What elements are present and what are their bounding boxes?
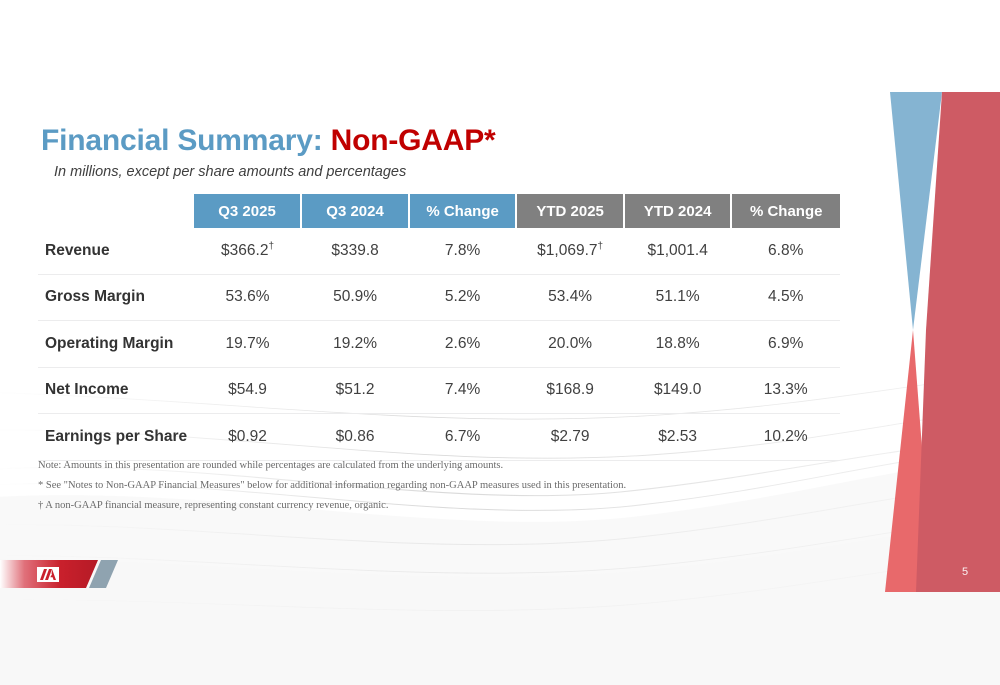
table-cell: 50.9% <box>301 274 409 321</box>
dagger-footnote-marker: † <box>598 241 604 252</box>
page-subtitle: In millions, except per share amounts an… <box>54 164 406 180</box>
financial-summary-table-container: Q3 2025Q3 2024% ChangeYTD 2025YTD 2024% … <box>38 194 840 461</box>
table-row: Gross Margin53.6%50.9%5.2%53.4%51.1%4.5% <box>38 274 840 321</box>
row-label: Gross Margin <box>38 274 194 321</box>
table-cell: $339.8 <box>301 228 409 274</box>
footnote-line: † A non-GAAP financial measure, represen… <box>38 500 678 512</box>
table-cell: 19.2% <box>301 321 409 368</box>
table-cell: $54.9 <box>194 367 302 414</box>
row-label: Net Income <box>38 367 194 414</box>
table-body: Revenue$366.2†$339.87.8%$1,069.7†$1,001.… <box>38 228 840 460</box>
table-cell: 20.0% <box>516 321 624 368</box>
table-cell: $0.92 <box>194 414 302 461</box>
table-cell: 6.7% <box>409 414 517 461</box>
table-cell: 4.5% <box>731 274 840 321</box>
page-title-accent: Non-GAAP* <box>331 124 496 157</box>
table-cell: 10.2% <box>731 414 840 461</box>
financial-summary-table: Q3 2025Q3 2024% ChangeYTD 2025YTD 2024% … <box>38 194 840 461</box>
slide-canvas: Financial Summary: Non-GAAP* In millions… <box>0 0 1000 685</box>
table-row: Net Income$54.9$51.27.4%$168.9$149.013.3… <box>38 367 840 414</box>
table-cell: $2.79 <box>516 414 624 461</box>
page-number: 5 <box>962 566 968 578</box>
row-label: Operating Margin <box>38 321 194 368</box>
table-cell: $168.9 <box>516 367 624 414</box>
dagger-footnote-marker: † <box>268 241 274 252</box>
table-cell: $149.0 <box>624 367 732 414</box>
table-cell: $51.2 <box>301 367 409 414</box>
footnote-line: * See "Notes to Non-GAAP Financial Measu… <box>38 480 678 492</box>
table-cell: 19.7% <box>194 321 302 368</box>
table-row: Earnings per Share$0.92$0.866.7%$2.79$2.… <box>38 414 840 461</box>
table-header-cell-q3-2024: Q3 2024 <box>301 194 409 228</box>
table-cell: $1,001.4 <box>624 228 732 274</box>
table-cell: 13.3% <box>731 367 840 414</box>
table-header-cell-ytd-2024: YTD 2024 <box>624 194 732 228</box>
table-header-cell-change: % Change <box>731 194 840 228</box>
table-row: Revenue$366.2†$339.87.8%$1,069.7†$1,001.… <box>38 228 840 274</box>
table-row: Operating Margin19.7%19.2%2.6%20.0%18.8%… <box>38 321 840 368</box>
table-header-cell-change: % Change <box>409 194 517 228</box>
table-cell: $2.53 <box>624 414 732 461</box>
table-cell: 51.1% <box>624 274 732 321</box>
table-cell: $1,069.7† <box>516 228 624 274</box>
table-header-cell-blank <box>38 194 194 228</box>
table-cell: 6.8% <box>731 228 840 274</box>
company-logo <box>0 556 125 592</box>
table-cell: 53.6% <box>194 274 302 321</box>
table-header-cell-q3-2025: Q3 2025 <box>194 194 302 228</box>
footnotes: Note: Amounts in this presentation are r… <box>38 460 678 520</box>
row-label: Earnings per Share <box>38 414 194 461</box>
table-cell: 6.9% <box>731 321 840 368</box>
table-cell: 53.4% <box>516 274 624 321</box>
table-cell: 18.8% <box>624 321 732 368</box>
page-title-main: Financial Summary: <box>41 124 331 157</box>
table-cell: 5.2% <box>409 274 517 321</box>
table-header-cell-ytd-2025: YTD 2025 <box>516 194 624 228</box>
table-cell: 2.6% <box>409 321 517 368</box>
table-cell: 7.8% <box>409 228 517 274</box>
page-title-container: Financial Summary: Non-GAAP* <box>41 124 495 157</box>
footnote-line: Note: Amounts in this presentation are r… <box>38 460 678 472</box>
table-cell: $366.2† <box>194 228 302 274</box>
table-header: Q3 2025Q3 2024% ChangeYTD 2025YTD 2024% … <box>38 194 840 228</box>
table-cell: 7.4% <box>409 367 517 414</box>
right-edge-decoration <box>860 0 1000 685</box>
table-header-row: Q3 2025Q3 2024% ChangeYTD 2025YTD 2024% … <box>38 194 840 228</box>
page-title: Financial Summary: Non-GAAP* <box>41 124 495 157</box>
row-label: Revenue <box>38 228 194 274</box>
table-cell: $0.86 <box>301 414 409 461</box>
